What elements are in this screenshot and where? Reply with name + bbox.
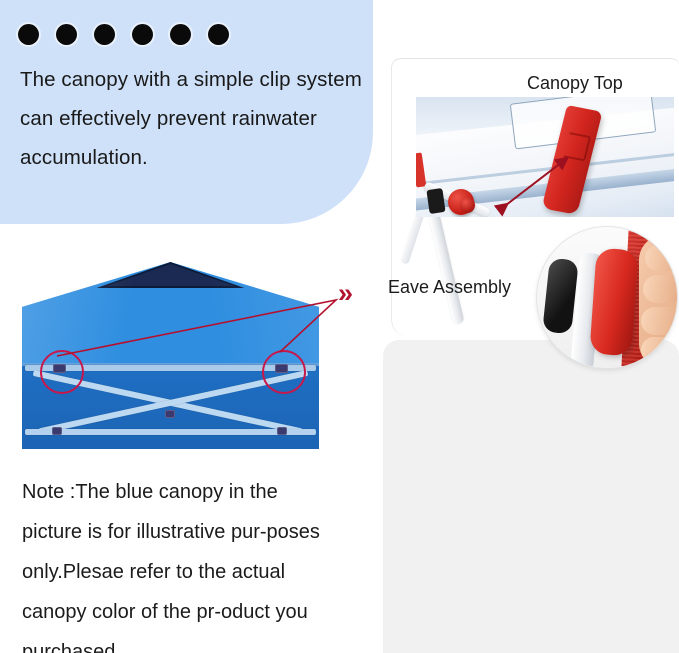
inset-red-clip — [589, 248, 638, 357]
dot-row — [18, 24, 229, 45]
label-canopy-top: Canopy Top — [527, 73, 623, 94]
chevron-right-icon: » — [338, 278, 350, 309]
bullet-dot-icon — [170, 24, 191, 45]
headline-banner: The canopy with a simple clip system can… — [0, 0, 373, 224]
inset-finger-2 — [643, 275, 677, 303]
bullet-dot-icon — [132, 24, 153, 45]
bullet-dot-icon — [56, 24, 77, 45]
label-eave-assembly: Eave Assembly — [388, 277, 511, 298]
canopy-clip-lower-right — [277, 427, 287, 435]
canopy-clip-lower-left — [52, 427, 62, 435]
bullet-dot-icon — [94, 24, 115, 45]
clip-pointer-arrow-icon — [416, 97, 674, 217]
warning-panel: Warning: Always attach it to the eave to… — [383, 340, 679, 653]
infographic-root: Warning: Always attach it to the eave to… — [0, 0, 679, 653]
disclaimer-note: Note :The blue canopy in the picture is … — [22, 472, 342, 653]
highlight-circle-right — [262, 350, 306, 394]
inset-finger-4 — [641, 337, 677, 363]
canopy-top-clip-photo — [416, 97, 674, 217]
canopy-clip-center — [165, 410, 175, 418]
inset-finger-1 — [645, 245, 677, 271]
blue-canopy-image — [22, 262, 319, 449]
inset-finger-3 — [641, 307, 677, 335]
hand-strap-inset — [537, 227, 677, 368]
truss-bar-horizontal-bottom — [25, 429, 316, 435]
bullet-dot-icon — [18, 24, 39, 45]
headline-text: The canopy with a simple clip system can… — [20, 60, 365, 177]
highlight-circle-left — [40, 350, 84, 394]
bullet-dot-icon — [208, 24, 229, 45]
